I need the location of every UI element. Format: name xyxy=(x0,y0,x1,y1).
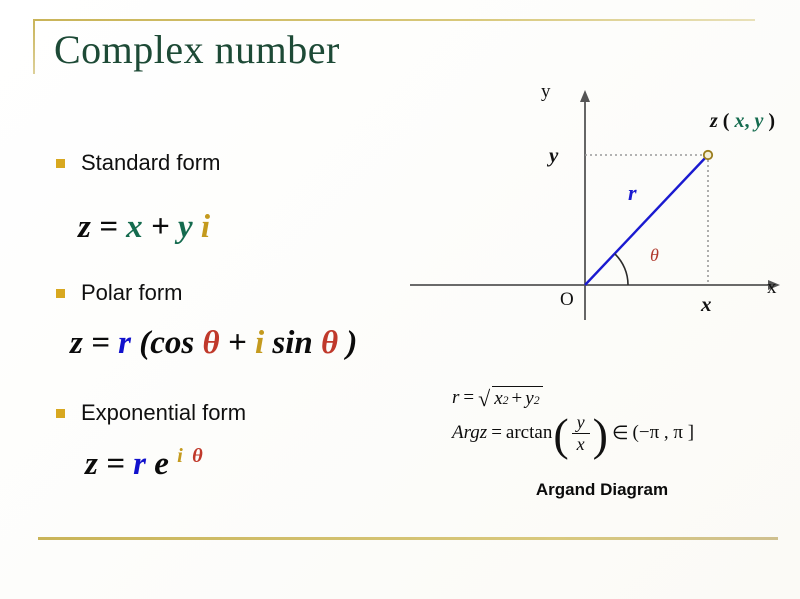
formula-argument-lhs: Argz xyxy=(452,422,487,444)
formula-polar-open-cos: (cos xyxy=(139,325,194,361)
formula-polar-z: z xyxy=(70,325,83,361)
formula-argument-arctan: arctan xyxy=(506,422,552,444)
formula-standard-equals: = xyxy=(99,209,118,245)
formula-modulus-r: r xyxy=(452,387,459,409)
formula-exponential-equals: = xyxy=(106,446,125,482)
bullet-item-polar-form: Polar form xyxy=(56,280,182,306)
top-accent-rule xyxy=(33,19,755,21)
slide-canvas: Complex number Standard form z = x + y i… xyxy=(0,0,800,599)
y-axis-label: y xyxy=(541,81,551,103)
x-value-label: x xyxy=(701,292,712,317)
point-label-z-xy: z ( x, y ) xyxy=(710,110,775,133)
argand-diagram-svg xyxy=(410,70,795,320)
y-axis-arrowhead xyxy=(580,90,590,102)
formula-polar-equals: = xyxy=(91,325,110,361)
formula-polar-theta-2: θ xyxy=(321,325,338,361)
formula-polar-close: ) xyxy=(346,325,357,361)
square-bullet-icon xyxy=(56,409,65,418)
x-axis-label: x xyxy=(767,277,777,299)
bullet-label-standard-form: Standard form xyxy=(81,150,220,176)
page-title: Complex number xyxy=(54,26,340,73)
radius-label: r xyxy=(628,180,637,206)
left-accent-rule xyxy=(33,19,35,74)
formula-standard-z: z xyxy=(78,209,91,245)
point-label-paren-close: ) xyxy=(768,110,775,132)
formula-standard-form: z = x + y i xyxy=(78,209,210,246)
formula-argument-fraction: y x xyxy=(572,413,590,454)
square-bullet-icon xyxy=(56,159,65,168)
formula-argument-equals: = xyxy=(491,422,502,444)
formula-argument-range: (−π , π ] xyxy=(633,422,695,444)
bottom-accent-rule xyxy=(38,537,778,540)
formula-modulus-y-exponent: 2 xyxy=(534,394,540,408)
formula-argument-paren-close: ) xyxy=(593,418,608,451)
bullet-label-polar-form: Polar form xyxy=(81,280,182,306)
formula-standard-x: x xyxy=(126,209,143,245)
bullet-label-exponential-form: Exponential form xyxy=(81,400,246,426)
formula-polar-theta-1: θ xyxy=(202,325,219,361)
formula-exponential-e: e xyxy=(154,446,169,482)
formula-modulus-radicand: x2 + y2 xyxy=(492,386,542,410)
sqrt-icon: √ xyxy=(478,386,490,412)
bullet-item-exponential-form: Exponential form xyxy=(56,400,246,426)
formula-argument-numerator: y xyxy=(572,413,590,434)
formula-argument-denominator: x xyxy=(572,434,590,454)
formula-modulus-plus: + xyxy=(512,388,523,410)
formula-polar-form: z = r (cos θ + i sin θ ) xyxy=(70,325,357,362)
formula-exponential-z: z xyxy=(85,446,98,482)
formula-argument-element-of: ∈ xyxy=(612,422,629,445)
formula-exponential-theta: θ xyxy=(192,445,204,467)
formula-polar-plus: + xyxy=(228,325,247,361)
point-label-x: x xyxy=(734,110,744,132)
argand-formula-block: r = √ x2 + y2 Argz = arctan ( y x ) ∈ (−… xyxy=(452,385,752,454)
formula-polar-i: i xyxy=(255,325,264,361)
bullet-item-standard-form: Standard form xyxy=(56,150,220,176)
diagram-caption: Argand Diagram xyxy=(452,480,752,500)
point-label-z: z xyxy=(710,110,718,132)
square-bullet-icon xyxy=(56,289,65,298)
formula-argument: Argz = arctan ( y x ) ∈ (−π , π ] xyxy=(452,413,752,454)
point-label-comma: , xyxy=(744,110,749,132)
point-marker-z xyxy=(704,151,712,159)
formula-standard-i: i xyxy=(201,209,210,245)
angle-arc xyxy=(615,254,628,285)
formula-modulus-y: y xyxy=(525,388,533,410)
formula-modulus-x: x xyxy=(494,388,502,410)
formula-standard-y: y xyxy=(178,209,193,245)
formula-modulus-x-exponent: 2 xyxy=(503,394,509,408)
argand-diagram: y x y x O z ( x, y ) r θ xyxy=(410,70,795,320)
formula-exponential-i: i xyxy=(177,445,184,467)
formula-polar-r: r xyxy=(118,325,131,361)
formula-modulus-equals: = xyxy=(463,387,474,409)
formula-polar-sin: sin xyxy=(272,325,312,361)
angle-label: θ xyxy=(650,245,659,266)
formula-standard-plus: + xyxy=(151,209,170,245)
origin-label: O xyxy=(560,289,574,311)
formula-exponential-r: r xyxy=(133,446,146,482)
formula-exponential-form: z = r e i θ xyxy=(85,445,204,483)
radius-vector xyxy=(585,156,707,285)
point-label-paren-open: ( xyxy=(723,110,730,132)
y-value-label: y xyxy=(549,143,558,168)
formula-modulus: r = √ x2 + y2 xyxy=(452,385,752,411)
formula-argument-paren-open: ( xyxy=(553,418,568,451)
